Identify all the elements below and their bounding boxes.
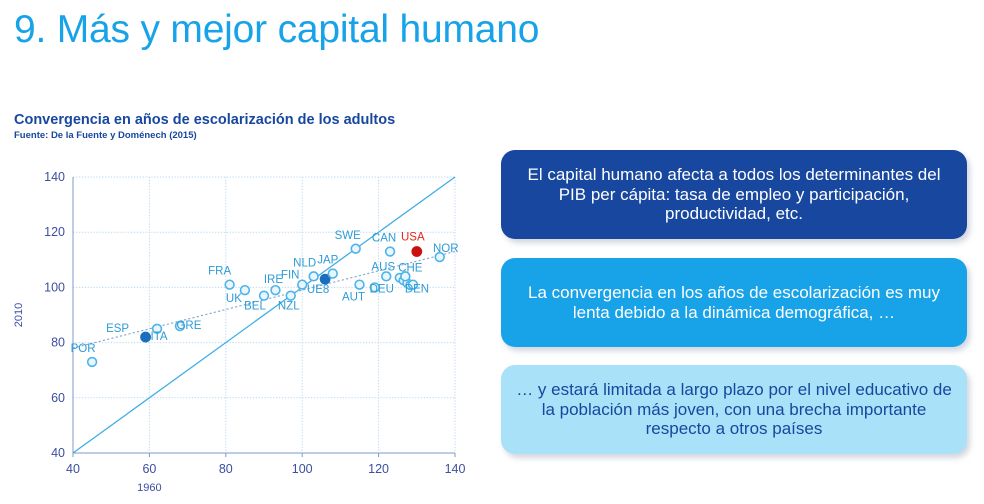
data-point-esp xyxy=(141,332,150,341)
data-point-ire xyxy=(271,286,280,295)
x-axis-tick-label: 40 xyxy=(66,462,80,476)
data-point-jap xyxy=(328,269,337,278)
callout-text-3: … y estará limitada a largo plazo por el… xyxy=(515,380,953,439)
callout-box-3: … y estará limitada a largo plazo por el… xyxy=(501,365,967,454)
45-degree-line-line xyxy=(73,177,455,453)
chart-canvas: PORESPITAGREFRAUKBELIRENZLFINNLDUE8JAPSW… xyxy=(0,160,492,504)
data-point-aut xyxy=(355,280,364,289)
scatter-chart: PORESPITAGREFRAUKBELIRENZLFINNLDUE8JAPSW… xyxy=(0,160,492,504)
data-point-bel xyxy=(260,291,269,300)
x-axis-tick-label: 140 xyxy=(445,462,466,476)
data-point-fra xyxy=(225,280,234,289)
callout-text-2: La convergencia en los años de escolariz… xyxy=(515,283,953,322)
data-point-label-deu: DEU xyxy=(370,283,394,295)
y-axis-title: 2010 xyxy=(13,303,25,327)
data-point-label-jap: JAP xyxy=(317,255,338,267)
y-axis-tick-label: 80 xyxy=(51,336,65,350)
x-axis-tick-label: 100 xyxy=(292,462,313,476)
data-point-label-can: CAN xyxy=(372,233,396,245)
data-point-label-bel: BEL xyxy=(244,301,266,313)
data-point-label-aus: AUS xyxy=(371,261,395,273)
y-axis-tick-label: 40 xyxy=(51,446,65,460)
data-point-label-gre: GRE xyxy=(176,320,201,332)
x-axis-tick-label: 120 xyxy=(368,462,389,476)
data-point-can xyxy=(386,247,395,256)
data-point-label-aut: AUT xyxy=(342,292,365,304)
x-axis-title: 1960 xyxy=(137,482,161,494)
data-point-label-nld: NLD xyxy=(293,257,316,269)
callout-box-2: La convergencia en los años de escolariz… xyxy=(501,258,967,347)
data-point-nzl xyxy=(286,291,295,300)
slide-root: 9. Más y mejor capital humano Convergenc… xyxy=(0,0,984,504)
data-point-label-ita: ITA xyxy=(151,331,168,343)
data-point-label-fra: FRA xyxy=(208,266,231,278)
data-point-label-ue8: UE8 xyxy=(307,284,329,296)
y-axis-tick-label: 120 xyxy=(44,225,65,239)
data-point-label-nzl: NZL xyxy=(278,301,300,313)
data-point-label-che: CHE xyxy=(398,262,423,274)
data-point-label-por: POR xyxy=(71,343,96,355)
data-point-label-fin: FIN xyxy=(281,270,300,282)
x-axis-tick-label: 80 xyxy=(219,462,233,476)
data-point-label-den: DEN xyxy=(405,284,429,296)
data-point-label-usa: USA xyxy=(401,232,425,244)
data-point-nld xyxy=(309,272,318,281)
data-point-label-esp: ESP xyxy=(106,323,129,335)
data-point-label-swe: SWE xyxy=(335,230,362,242)
data-point-label-nor: NOR xyxy=(433,243,459,255)
y-axis-tick-label: 100 xyxy=(44,280,65,294)
page-title: 9. Más y mejor capital humano xyxy=(14,8,539,52)
chart-title: Convergencia en años de escolarización d… xyxy=(14,112,395,128)
chart-source-note: Fuente: De la Fuente y Doménech (2015) xyxy=(14,130,197,141)
data-point-por xyxy=(88,358,97,367)
data-point-label-uk: UK xyxy=(226,293,242,305)
data-point-swe xyxy=(351,244,360,253)
y-axis-tick-label: 140 xyxy=(44,170,65,184)
callout-text-1: El capital humano afecta a todos los det… xyxy=(515,165,953,224)
data-point-usa xyxy=(412,247,421,256)
y-axis-tick-label: 60 xyxy=(51,391,65,405)
x-axis-tick-label: 60 xyxy=(142,462,156,476)
callout-box-1: El capital humano afecta a todos los det… xyxy=(501,150,967,239)
